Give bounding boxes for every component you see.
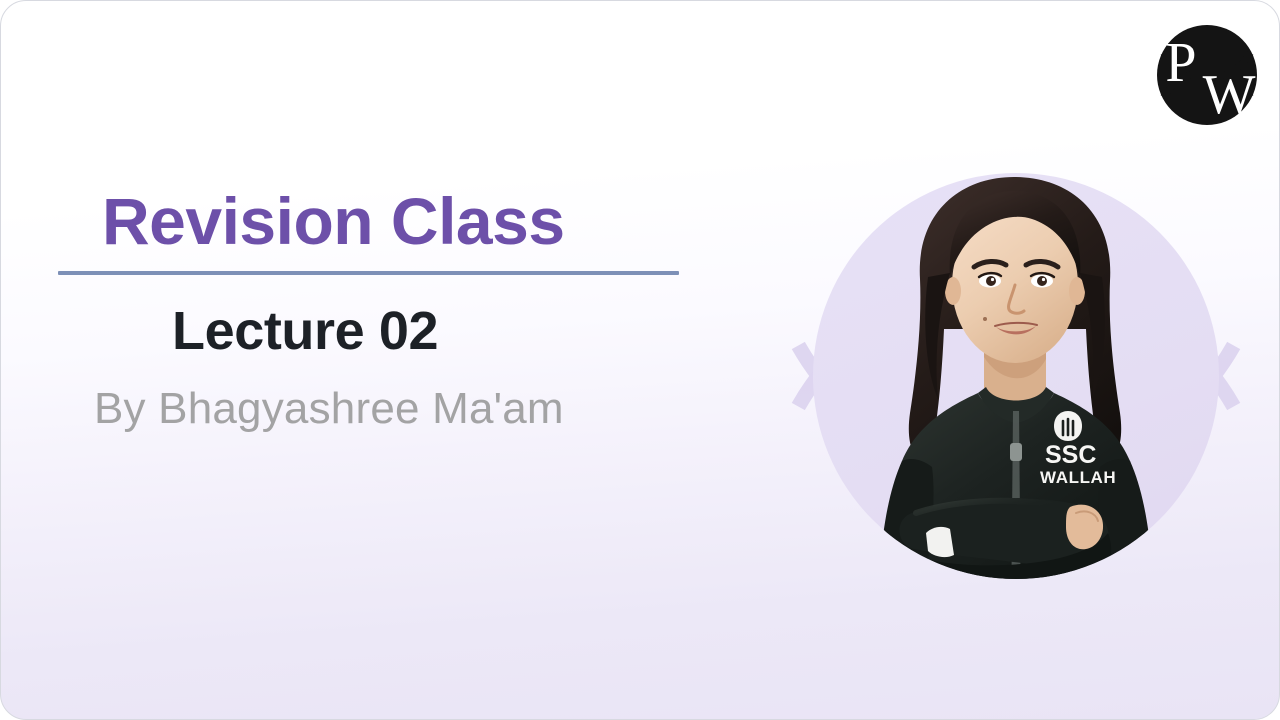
slide-canvas: SSC WALLAH Revision Class Lecture 02 By …: [0, 0, 1280, 720]
instructor-photo: SSC WALLAH: [856, 161, 1176, 631]
instructor-byline: By Bhagyashree Ma'am: [58, 360, 698, 432]
jacket-cuff: [926, 527, 954, 557]
jacket-brand-line2: WALLAH: [1040, 468, 1116, 487]
pw-logo-letter-w: W: [1203, 64, 1256, 126]
page-title: Revision Class: [58, 187, 698, 257]
jacket-brand-line1: SSC: [1045, 441, 1096, 469]
zip-pull: [1010, 443, 1022, 461]
slide-text-block: Revision Class Lecture 02 By Bhagyashree…: [58, 187, 698, 432]
pw-logo: P W: [1141, 9, 1273, 141]
lecture-number: Lecture 02: [58, 275, 698, 360]
pw-logo-letter-p: P: [1165, 32, 1196, 94]
beauty-mark: [983, 317, 987, 321]
